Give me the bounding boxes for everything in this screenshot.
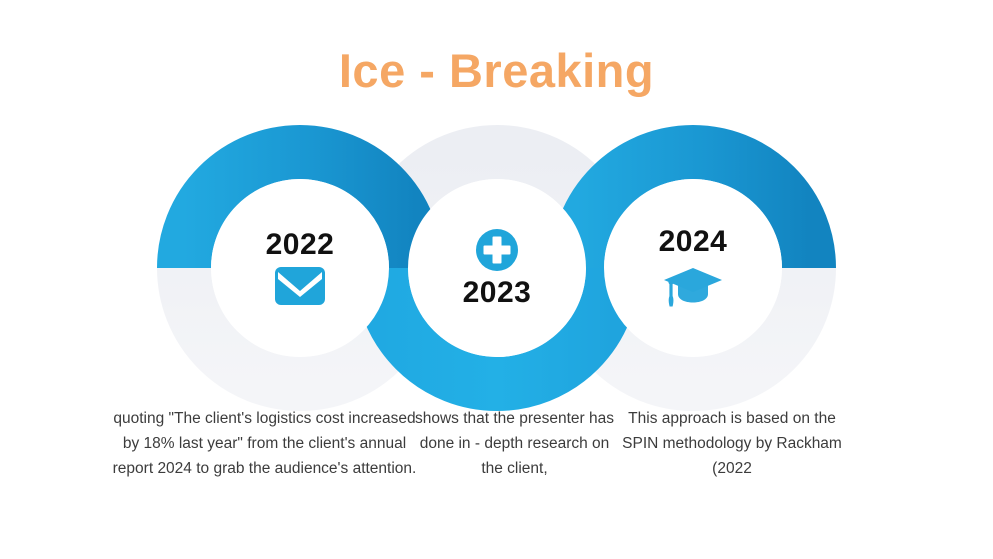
graduation-cap-icon (662, 263, 724, 309)
caption-row: quoting "The client's logistics cost inc… (0, 406, 993, 556)
envelope-icon (274, 266, 326, 306)
caption-2024: This approach is based on the SPIN metho… (622, 406, 842, 481)
year-label-2024: 2024 (659, 227, 728, 257)
year-label-2023: 2023 (463, 278, 532, 308)
caption-2022: quoting "The client's logistics cost inc… (112, 406, 417, 481)
slide-canvas: Ice - Breaking (0, 0, 993, 559)
timeline-step-2024[interactable]: 2024 (609, 184, 777, 352)
timeline-step-2022[interactable]: 2022 (216, 184, 384, 352)
year-label-2022: 2022 (266, 230, 335, 260)
timeline-step-2023[interactable]: 2023 (413, 184, 581, 352)
plus-circle-icon (475, 228, 519, 272)
caption-2023: shows that the presenter has done in - d… (412, 406, 617, 481)
